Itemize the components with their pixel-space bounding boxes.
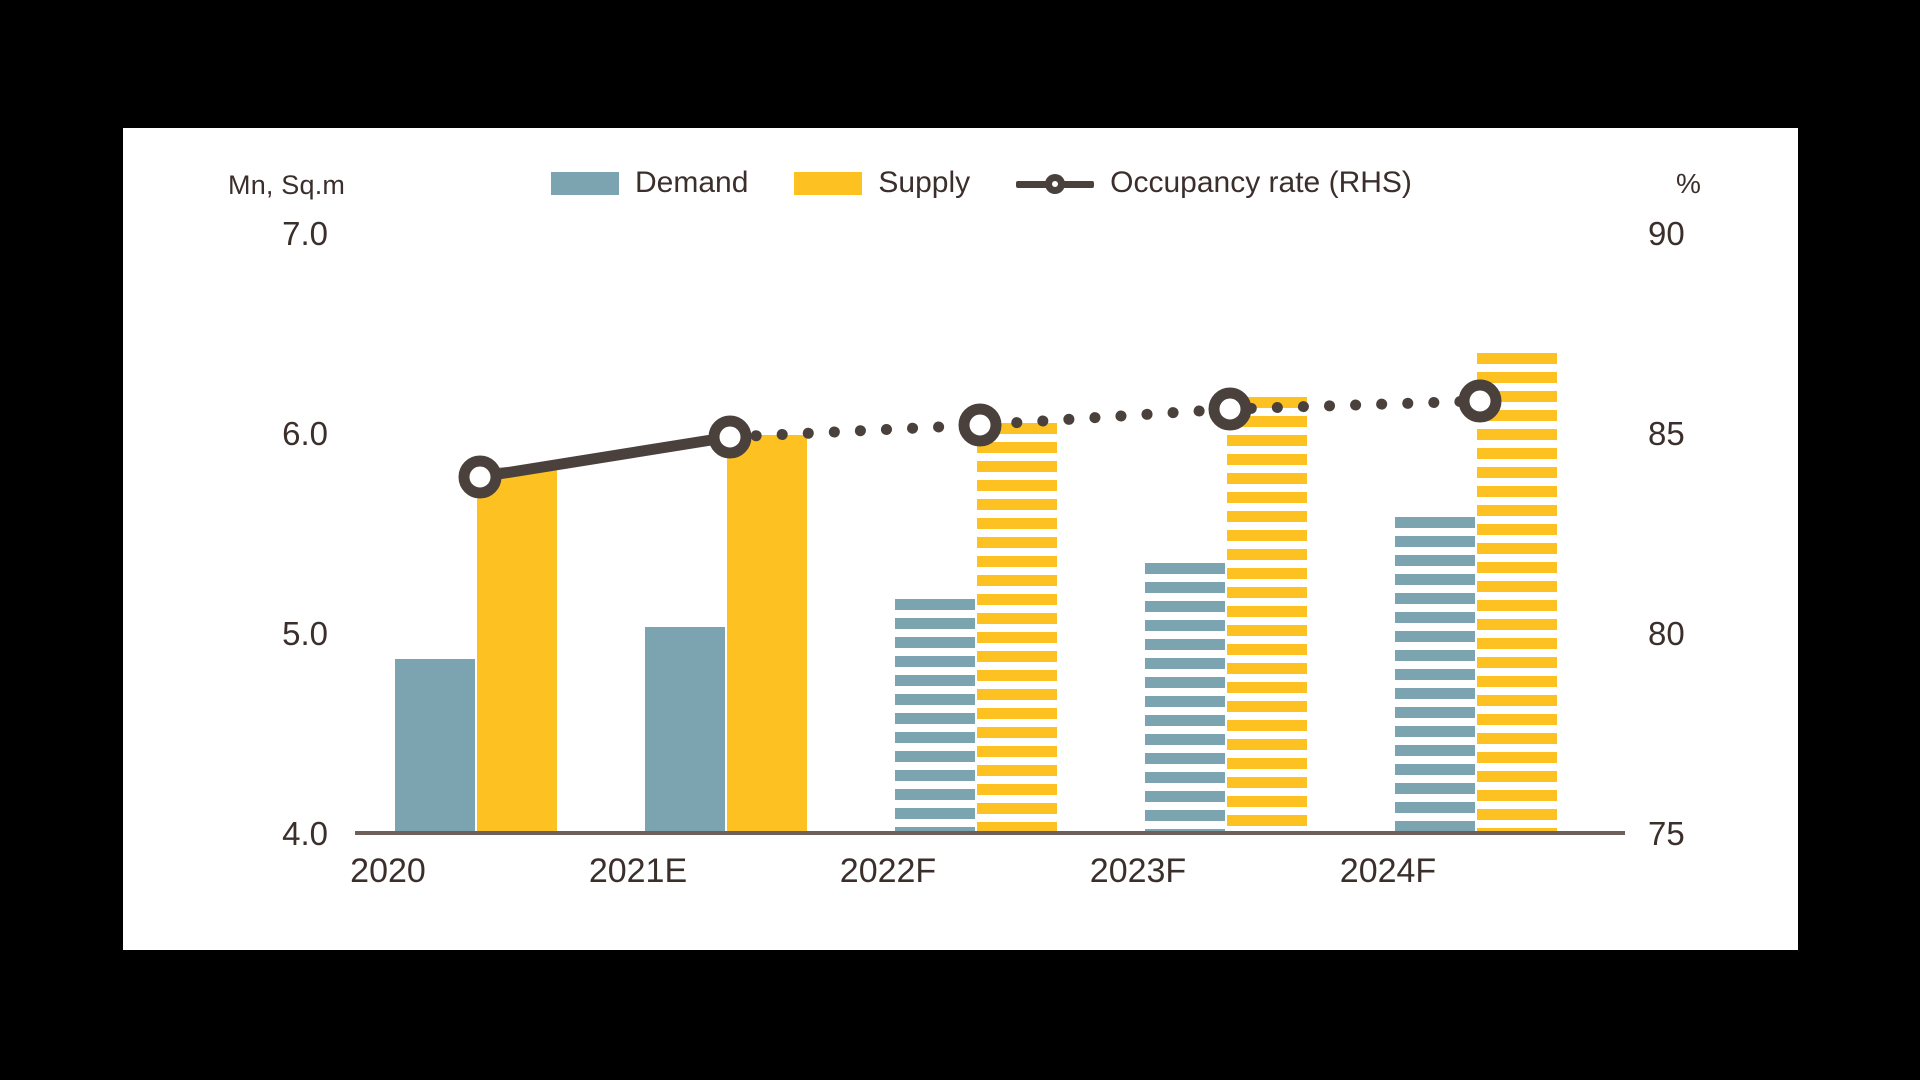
legend-line-marker-icon [1016, 172, 1094, 195]
chart-legend: Demand Supply Occupancy rate (RHS) [551, 166, 1412, 200]
x-axis-label-2024f: 2024F [1268, 852, 1508, 891]
bar-demand-2022f[interactable] [895, 599, 975, 833]
legend-item-occupancy-rate[interactable]: Occupancy rate (RHS) [1016, 166, 1412, 200]
plot-area [355, 233, 1625, 833]
x-axis-baseline [355, 831, 1625, 835]
y2-axis-tick-75: 75 [1648, 815, 1758, 853]
bar-supply-2021e[interactable] [727, 435, 807, 833]
left-axis-unit-label: Mn, Sq.m [228, 170, 345, 201]
bar-group-2021e [635, 233, 835, 833]
legend-item-supply[interactable]: Supply [794, 166, 970, 200]
bar-group-2022f [885, 233, 1085, 833]
bar-group-2024f [1385, 233, 1585, 833]
bar-supply-2022f[interactable] [977, 423, 1057, 833]
y-axis-tick-4: 4.0 [218, 815, 328, 853]
legend-label-occupancy-rate: Occupancy rate (RHS) [1110, 166, 1412, 200]
y-axis-tick-6: 6.0 [218, 415, 328, 453]
y2-axis-tick-85: 85 [1648, 415, 1758, 453]
legend-label-demand: Demand [635, 166, 748, 200]
x-axis-label-2023f: 2023F [1018, 852, 1258, 891]
legend-item-demand[interactable]: Demand [551, 166, 748, 200]
y2-axis-tick-90: 90 [1648, 215, 1758, 253]
bar-demand-2024f[interactable] [1395, 517, 1475, 833]
bar-demand-2020[interactable] [395, 659, 475, 833]
legend-label-supply: Supply [878, 166, 970, 200]
bar-supply-2024f[interactable] [1477, 353, 1557, 833]
chart-figure: Mn, Sq.m % Demand Supply Occupancy rate … [0, 0, 1920, 1080]
right-axis-unit-label: % [1676, 168, 1701, 200]
x-axis-label-2022f: 2022F [768, 852, 1008, 891]
bar-supply-2023f[interactable] [1227, 397, 1307, 833]
bar-group-2023f [1135, 233, 1335, 833]
y2-axis-tick-80: 80 [1648, 615, 1758, 653]
bar-demand-2023f[interactable] [1145, 563, 1225, 833]
legend-swatch-supply-icon [794, 172, 862, 195]
y-axis-tick-5: 5.0 [218, 615, 328, 653]
x-axis-label-2020: 2020 [268, 852, 508, 891]
bar-demand-2021e[interactable] [645, 627, 725, 833]
x-axis-label-2021e: 2021E [518, 852, 758, 891]
y-axis-tick-7: 7.0 [218, 215, 328, 253]
bar-group-2020 [385, 233, 585, 833]
bar-supply-2020[interactable] [477, 467, 557, 833]
legend-swatch-demand-icon [551, 172, 619, 195]
